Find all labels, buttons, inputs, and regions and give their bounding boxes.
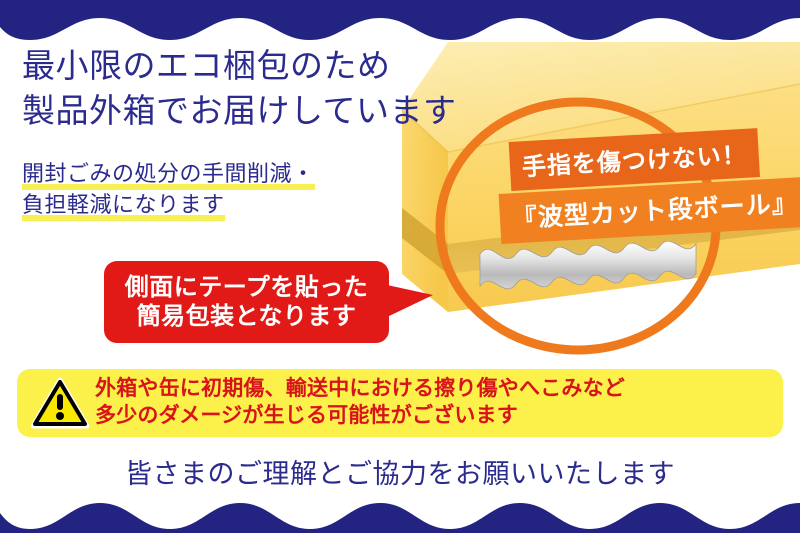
sub-copy-highlight-2: 負担軽減になります [22, 192, 225, 221]
headline-line-1: 最小限のエコ梱包のため [22, 44, 457, 89]
warning-panel: 外箱や缶に初期傷、輸送中における擦り傷やへこみなど 多少のダメージが生じる可能性… [17, 369, 783, 437]
headline-line-2: 製品外箱でお届けしています [22, 89, 457, 134]
closing-message: 皆さまのご理解とご協力をお願いいたします [0, 452, 800, 491]
sub-copy: 開封ごみの処分の手間削減・ 負担軽減になります [22, 163, 315, 225]
warning-line-1: 外箱や缶に初期傷、輸送中における擦り傷やへこみなど [95, 376, 625, 403]
warning-text: 外箱や缶に初期傷、輸送中における擦り傷やへこみなど 多少のダメージが生じる可能性… [95, 376, 625, 430]
sub-copy-highlight-1: 開封ごみの処分の手間削減・ [22, 161, 315, 190]
red-callout-line-2: 簡易包装となります [137, 302, 357, 331]
sub-copy-line-2: 負担軽減になります [22, 194, 315, 216]
warning-line-2: 多少のダメージが生じる可能性がございます [95, 403, 625, 430]
warning-triangle-icon [31, 377, 89, 429]
red-callout-line-1: 側面にテープを貼った [125, 273, 369, 302]
page-headline: 最小限のエコ梱包のため 製品外箱でお届けしています [22, 44, 457, 134]
sub-copy-line-1: 開封ごみの処分の手間削減・ [22, 163, 315, 185]
bottom-wave-decoration [0, 489, 800, 533]
red-callout-box: 側面にテープを貼った 簡易包装となります [104, 261, 389, 343]
